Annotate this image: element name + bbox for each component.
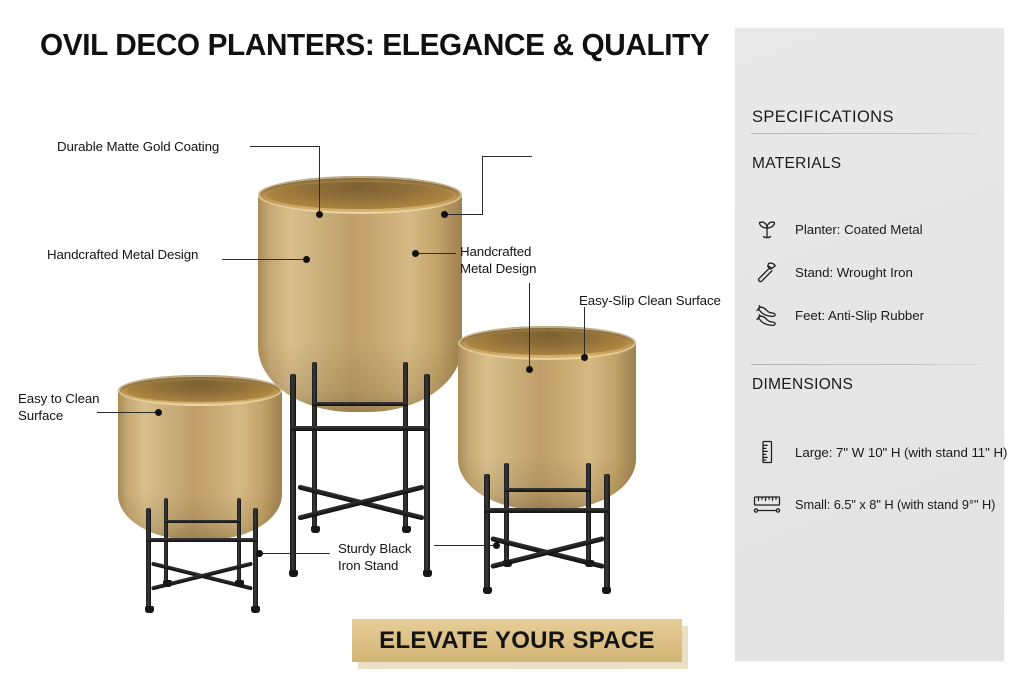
callout-easy-slip-clean-surface: Easy-Slip Clean Surface <box>579 292 721 309</box>
leaf-icon <box>752 214 782 244</box>
materials-item-planter-label: Planter: Coated Metal <box>795 222 923 237</box>
stand-small-right-leg-bl <box>504 463 509 563</box>
stand-large-leg-fr <box>424 374 430 576</box>
dot-handcrafted-left <box>303 256 310 263</box>
dimensions-item-small-label: Small: 6.5" x 8" H (with stand 9°" H) <box>795 497 995 512</box>
stand-small-right-foot-fr <box>602 587 611 594</box>
cta-label: ELEVATE YOUR SPACE <box>379 627 655 655</box>
stand-large-foot-br <box>402 526 411 533</box>
divider-specifications <box>751 133 980 134</box>
materials-item-feet: Feet: Anti-Slip Rubber <box>752 300 1002 330</box>
dot-easy-slip <box>581 354 588 361</box>
stand-large-foot-fr <box>423 570 432 577</box>
dot-sturdy-right <box>493 542 500 549</box>
stand-small-left-leg-fr <box>253 508 258 610</box>
stand-small-right-leg-fl <box>484 474 490 592</box>
stand-large-foot-fl <box>289 570 298 577</box>
materials-item-planter: Planter: Coated Metal <box>752 214 1002 244</box>
stand-large-ring-front <box>290 426 430 431</box>
callout-easy-to-clean-surface: Easy to Clean Surface <box>18 390 99 424</box>
callout-handcrafted-metal-design-right: Handcrafted Metal Design <box>460 243 536 277</box>
materials-item-stand-label: Stand: Wrought Iron <box>795 265 913 280</box>
dimensions-heading: DIMENSIONS <box>752 376 853 394</box>
planter-small-left-rim-inner <box>126 380 274 402</box>
specifications-panel: SPECIFICATIONS MATERIALS Planter: Coated… <box>735 28 1004 661</box>
stand-small-left-foot-fr <box>251 606 260 613</box>
callout-handcrafted-metal-design-left: Handcrafted Metal Design <box>47 246 198 263</box>
leader-top-bracket-h1 <box>443 214 483 215</box>
stand-large-ring-back <box>312 402 408 406</box>
callout-durable-matte-gold-coating: Durable Matte Gold Coating <box>57 138 219 155</box>
leader-top-bracket-h2 <box>482 156 532 157</box>
stand-small-left-foot-br <box>235 580 244 587</box>
stand-small-left-foot-bl <box>163 580 172 587</box>
dot-sturdy-left <box>256 550 263 557</box>
stand-large-leg-fl <box>290 374 296 576</box>
cta-banner[interactable]: ELEVATE YOUR SPACE <box>352 619 682 662</box>
vertical-ruler-icon <box>752 437 782 467</box>
materials-heading: MATERIALS <box>752 155 841 173</box>
leader-sturdy-left-h <box>262 553 330 554</box>
stand-small-right-foot-bl <box>503 560 512 567</box>
leader-sturdy-right-h <box>434 545 496 546</box>
stand-small-right-leg-fr <box>604 474 610 592</box>
leader-handcrafted-left-h <box>222 259 306 260</box>
dot-easy-clean <box>155 409 162 416</box>
stand-small-left-ring-front <box>146 538 258 542</box>
stand-small-left-ring-back <box>164 520 241 523</box>
hammer-icon <box>752 257 782 287</box>
leader-handcrafted-right-down-v <box>529 283 530 369</box>
leader-easy-clean-h <box>97 412 159 413</box>
dot-top-bracket <box>441 211 448 218</box>
planter-large-rim-inner <box>267 182 453 209</box>
dot-handcrafted-right-pot <box>526 366 533 373</box>
materials-item-stand: Stand: Wrought Iron <box>752 257 1002 287</box>
leader-easy-slip-v <box>584 307 585 357</box>
leader-handcrafted-right-h1 <box>418 253 456 254</box>
dot-durable-gold <box>316 211 323 218</box>
stand-large-leg-br <box>403 362 408 532</box>
infographic-canvas: OVIL DECO PLANTERS: ELEGANCE & QUALITY <box>0 0 1024 682</box>
dimensions-item-large-label: Large: 7" W 10" H (with stand 11" H) <box>795 445 1007 460</box>
stand-small-right <box>484 474 610 600</box>
stand-small-right-foot-br <box>585 560 594 567</box>
divider-dimensions <box>751 364 980 365</box>
stand-small-left-foot-fl <box>145 606 154 613</box>
stand-small-left-leg-fl <box>146 508 151 610</box>
horizontal-ruler-icon <box>752 489 782 519</box>
dot-handcrafted-right <box>412 250 419 257</box>
feet-icon <box>752 300 782 330</box>
stand-large-leg-bl <box>312 362 317 532</box>
dimensions-item-large: Large: 7" W 10" H (with stand 11" H) <box>752 437 1002 467</box>
materials-item-feet-label: Feet: Anti-Slip Rubber <box>795 308 924 323</box>
leader-durable-gold-h <box>250 146 320 147</box>
stand-small-right-ring-front <box>484 508 610 513</box>
leader-durable-gold-v <box>319 146 320 214</box>
product-illustration: Durable Matte Gold Coating Handcrafted M… <box>0 0 735 682</box>
specifications-heading: SPECIFICATIONS <box>752 108 894 127</box>
dimensions-item-small: Small: 6.5" x 8" H (with stand 9°" H) <box>752 489 1002 519</box>
stand-small-right-foot-fl <box>483 587 492 594</box>
stand-small-right-ring-back <box>504 488 591 492</box>
planter-small-right-rim-inner <box>466 331 628 355</box>
leader-top-bracket-v <box>482 156 483 215</box>
stand-small-left <box>146 508 258 616</box>
stand-small-right-leg-br <box>586 463 591 563</box>
callout-sturdy-black-iron-stand: Sturdy Black Iron Stand <box>338 540 411 574</box>
stand-large-foot-bl <box>311 526 320 533</box>
